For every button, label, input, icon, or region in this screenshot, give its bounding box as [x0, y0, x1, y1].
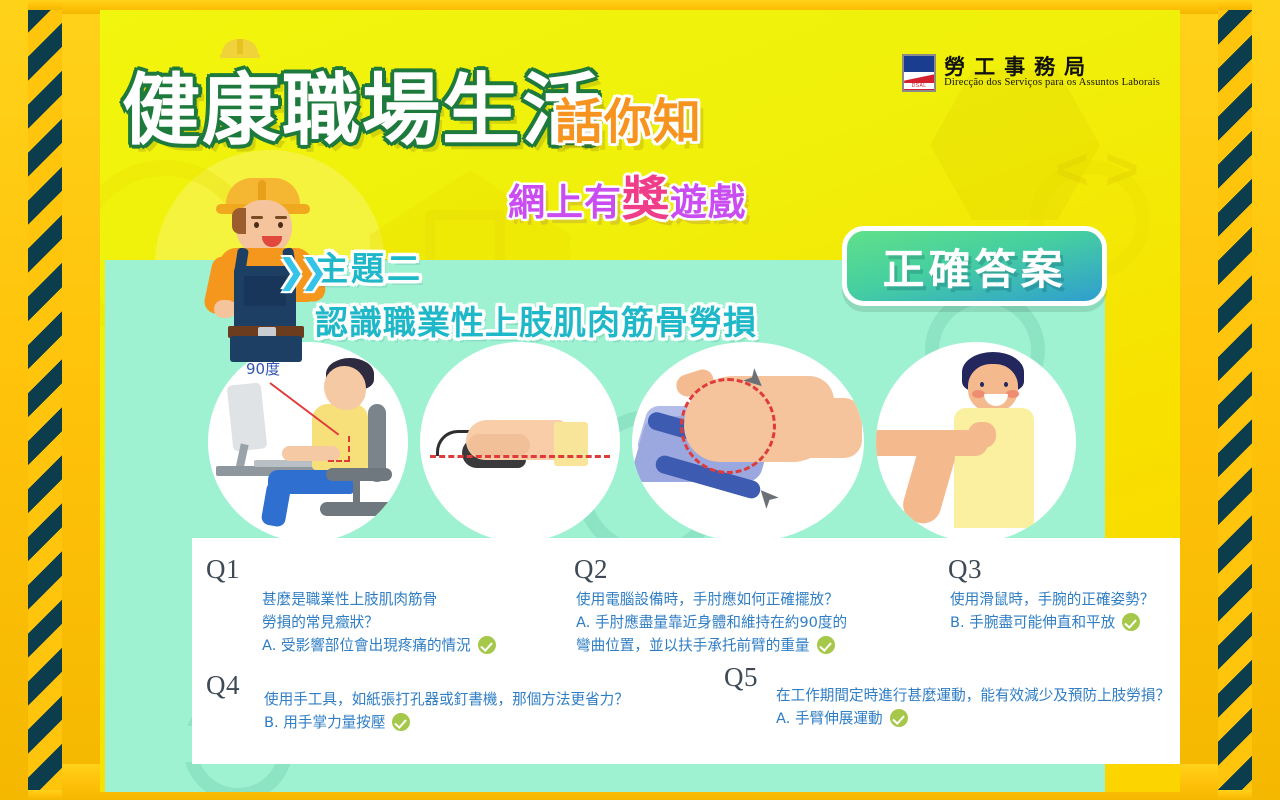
question-number-q3: Q3	[948, 554, 982, 585]
question-number-q5: Q5	[724, 662, 758, 693]
correct-check-icon-q3	[1122, 613, 1140, 631]
frame-plate-inner-right	[1174, 0, 1218, 800]
answer-text-q2: A. 手肘應盡量靠近身體和維持在約90度的	[576, 611, 956, 634]
dsal-emblem-icon: DSAL	[902, 54, 936, 92]
subtitle-two-part-2: 遊戲	[670, 181, 746, 224]
question-number-q4: Q4	[206, 670, 240, 701]
correct-check-icon-q2	[817, 636, 835, 654]
question-body-q4: 使用手工具，如紙張打孔器或釘書機，那個方法更省力？ B. 用手掌力量按壓	[264, 688, 734, 734]
illustration-mouse-wrist	[420, 342, 620, 542]
subtitle-two-highlight: 獎	[622, 172, 670, 227]
poster-root: < > DSAL 勞工事務局 Direcção dos Serviços par…	[0, 0, 1280, 800]
frame-plate-right	[1252, 0, 1280, 800]
answer-text-q2-line2: 彎曲位置，並以扶手承托前臂的重量	[576, 637, 810, 654]
illustration-hole-punch-palm: ➤ ➤	[632, 342, 864, 542]
answers-panel: Q1 甚麼是職業性上肢肌肉筋骨 勞損的常見癥狀？ A. 受影響部位會出現疼痛的情…	[192, 538, 1180, 764]
question-text-q3-line1: 使用滑鼠時，手腕的正確姿勢？	[950, 588, 1180, 611]
frame-plate-left	[0, 0, 28, 800]
bracket-decoration: < >	[1055, 140, 1125, 210]
topic-block: ❯❯ 主題二 認識職業性上肢肌肉筋骨勞損	[315, 242, 757, 344]
dsal-logo-text: 勞工事務局 Direcção dos Serviços para os Assu…	[944, 57, 1160, 89]
question-text-q5-line1: 在工作期間定時進行甚麼運動，能有效減少及預防上肢勞損？	[776, 684, 1180, 707]
topic-title: 認識職業性上肢肌肉筋骨勞損	[315, 296, 757, 344]
dsal-emblem-caption: DSAL	[904, 83, 934, 89]
question-body-q1: 甚麼是職業性上肢肌肉筋骨 勞損的常見癥狀？ A. 受影響部位會出現疼痛的情況	[262, 588, 592, 657]
answer-text-q5: A. 手臂伸展運動	[776, 710, 883, 727]
poster-canvas: < > DSAL 勞工事務局 Direcção dos Serviços par…	[100, 10, 1180, 792]
question-text-q1-line2: 勞損的常見癥狀？	[262, 611, 592, 634]
question-text-q4-line1: 使用手工具，如紙張打孔器或釘書機，那個方法更省力？	[264, 688, 734, 711]
illustration-row: 90度 ➤ ➤	[208, 342, 1180, 542]
question-body-q3: 使用滑鼠時，手腕的正確姿勢？ B. 手腕盡可能伸直和平放	[950, 588, 1180, 634]
correct-check-icon-q4	[392, 713, 410, 731]
page-subtitle-two: 網上有獎遊戲	[508, 160, 746, 229]
answer-text-q3: B. 手腕盡可能伸直和平放	[950, 614, 1115, 631]
question-text-q1-line1: 甚麼是職業性上肢肌肉筋骨	[262, 588, 592, 611]
question-body-q5: 在工作期間定時進行甚麼運動，能有效減少及預防上肢勞損？ A. 手臂伸展運動	[776, 684, 1180, 730]
question-number-q2: Q2	[574, 554, 608, 585]
dsal-name-cn: 勞工事務局	[944, 57, 1160, 78]
hardhat-icon	[218, 36, 262, 62]
page-subtitle: 話你知	[555, 82, 702, 152]
answer-text-q1: A. 受影響部位會出現疼痛的情況	[262, 637, 471, 654]
question-text-q2-line1: 使用電腦設備時，手肘應如何正確擺放？	[576, 588, 956, 611]
dsal-name-pt: Direcção dos Serviços para os Assuntos L…	[944, 78, 1160, 89]
highlight-circle-annotation	[680, 378, 776, 474]
correct-answer-badge: 正確答案	[842, 226, 1107, 306]
correct-check-icon-q5	[890, 709, 908, 727]
straight-wrist-guide-line	[430, 455, 610, 458]
illustration-arm-stretch	[876, 342, 1076, 542]
chevron-right-icon: ❯❯	[277, 252, 322, 292]
illustration-desk-posture: 90度	[208, 342, 408, 542]
question-number-q1: Q1	[206, 554, 240, 585]
correct-check-icon-q1	[478, 636, 496, 654]
question-body-q2: 使用電腦設備時，手肘應如何正確擺放？ A. 手肘應盡量靠近身體和維持在約90度的…	[576, 588, 956, 657]
page-title: 健康職場生活	[122, 48, 602, 160]
answer-text-q4: B. 用手掌力量按壓	[264, 714, 385, 731]
correct-answer-badge-label: 正確答案	[882, 236, 1066, 297]
topic-number-label: 主題二	[315, 242, 757, 290]
dsal-logo: DSAL 勞工事務局 Direcção dos Serviços para os…	[902, 54, 1160, 92]
subtitle-two-part-1: 網上有	[508, 181, 622, 224]
